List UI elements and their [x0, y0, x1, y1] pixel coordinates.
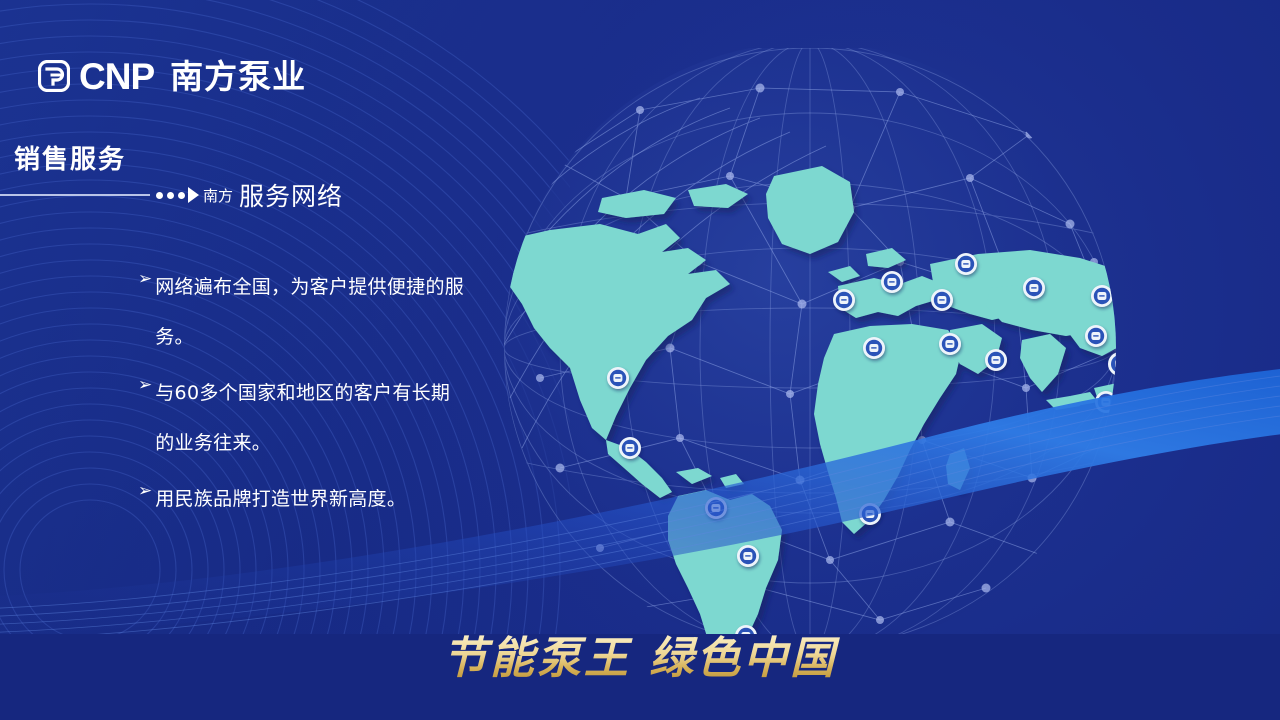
subtitle-prefix: 南方 [203, 185, 233, 206]
bullet-text: 用民族品牌打造世界新高度 [155, 474, 387, 524]
list-item: ➢ 用民族品牌打造世界新高度。 [138, 474, 468, 524]
bullet-text-tail: 。 [387, 474, 406, 524]
subtitle-row: 南方 服务网络 [0, 178, 343, 212]
dot-icon [156, 192, 163, 199]
list-item: ➢ 与60多个国家和地区的客户有长期的业务往来。 [138, 368, 468, 468]
triangle-arrow-icon [188, 187, 199, 203]
bullet-arrow-icon: ➢ [138, 262, 152, 296]
logo-chinese-text: 南方泵业 [170, 60, 306, 93]
bullet-text: 与60多个国家和地区的客户有长期的业务往来。 [155, 368, 468, 468]
slide-root: CNP 南方泵业 销售服务 南方 服务网络 ➢ 网络遍布全国，为客户提供便捷的服… [0, 0, 1280, 720]
dot-icon [178, 192, 185, 199]
subtitle-text: 服务网络 [239, 177, 343, 213]
bullet-list: ➢ 网络遍布全国，为客户提供便捷的服务。 ➢ 与60多个国家和地区的客户有长期的… [138, 262, 468, 530]
cnp-logo-mark-icon [38, 60, 70, 92]
bottom-band [0, 634, 1280, 720]
brand-logo[interactable]: CNP 南方泵业 [38, 55, 306, 97]
bullet-arrow-icon: ➢ [138, 474, 152, 508]
title-rule [0, 194, 150, 196]
bullet-text: 网络遍布全国，为客户提供便捷的服务。 [155, 262, 468, 362]
logo-latin-text: CNP [79, 58, 154, 95]
bullet-arrow-icon: ➢ [138, 368, 152, 402]
dot-icon [167, 192, 174, 199]
page-title: 销售服务 [14, 139, 126, 176]
list-item: ➢ 网络遍布全国，为客户提供便捷的服务。 [138, 262, 468, 362]
dots-decoration [156, 192, 185, 199]
